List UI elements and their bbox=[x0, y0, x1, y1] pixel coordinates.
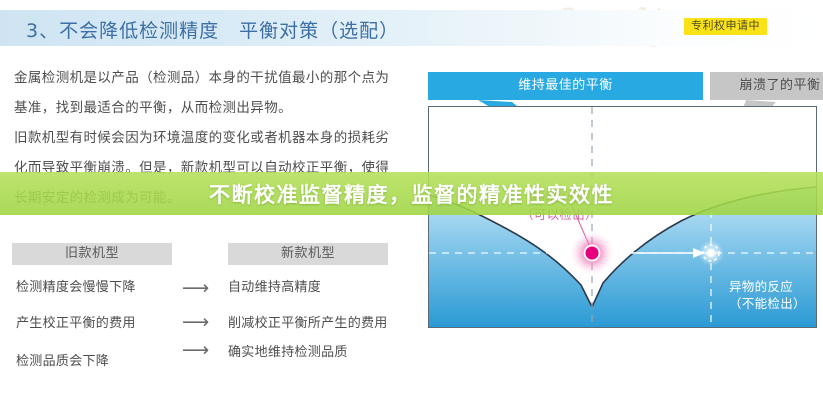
label-undetectable-line1: 异物的反应 bbox=[729, 279, 793, 294]
patent-pending-badge: 专利权申请中 bbox=[684, 18, 767, 35]
label-undetectable-reaction: 异物的反应 （不能检出） bbox=[729, 279, 806, 313]
callout-optimal-balance: 维持最佳的平衡 bbox=[428, 72, 703, 100]
table-row: 检测品质会下降 bbox=[16, 355, 109, 369]
interference-chart: 异物的反应 （可以检出） 异物的反应 （不能检出） 蓝色范围是因产品本身的干扰，… bbox=[428, 106, 817, 328]
table-row: 检测精度会慢慢下降 bbox=[16, 281, 136, 295]
overlay-banner-text: 不断校准监督精度，监督的精准性实效性 bbox=[0, 172, 823, 215]
table-row: 确实地维持检测品质 bbox=[228, 346, 348, 360]
arrow-right-icon: ⟶ bbox=[182, 341, 209, 360]
comparison-table: 旧款机型 新款机型 检测精度会慢慢下降 ⟶ 自动维持高精度 产生校正平衡的费用 … bbox=[12, 243, 404, 388]
table-header-new-model: 新款机型 bbox=[228, 243, 388, 265]
label-undetectable-line2: （不能检出） bbox=[729, 296, 806, 311]
slide-root: foodjx.com 3、不会降低检测精度 平衡对策（选配） 专利权申请中 金属… bbox=[0, 0, 823, 400]
table-row: 产生校正平衡的费用 bbox=[16, 317, 136, 331]
page-title: 3、不会降低检测精度 平衡对策（选配） bbox=[26, 16, 399, 43]
callout-broken-balance: 崩溃了的平衡 bbox=[710, 72, 823, 100]
balance-diagram: 维持最佳的平衡 崩溃了的平衡 bbox=[416, 58, 814, 388]
table-header-old-model: 旧款机型 bbox=[12, 243, 172, 265]
table-row: 削减校正平衡所产生的费用 bbox=[228, 317, 388, 331]
arrow-right-icon: ⟶ bbox=[182, 279, 209, 298]
table-row: 自动维持高精度 bbox=[228, 281, 321, 295]
body-paragraph-1: 金属检测机是以产品（检测品）本身的干扰值最小的那个点为 bbox=[14, 70, 389, 86]
arrow-right-icon: ⟶ bbox=[182, 313, 209, 332]
body-paragraph-3: 旧款机型有时候会因为环境温度的变化或者机器本身的损耗劣 bbox=[14, 130, 389, 146]
body-paragraph-2: 基准，找到最适合的平衡，从而检测出异物。 bbox=[14, 100, 292, 116]
